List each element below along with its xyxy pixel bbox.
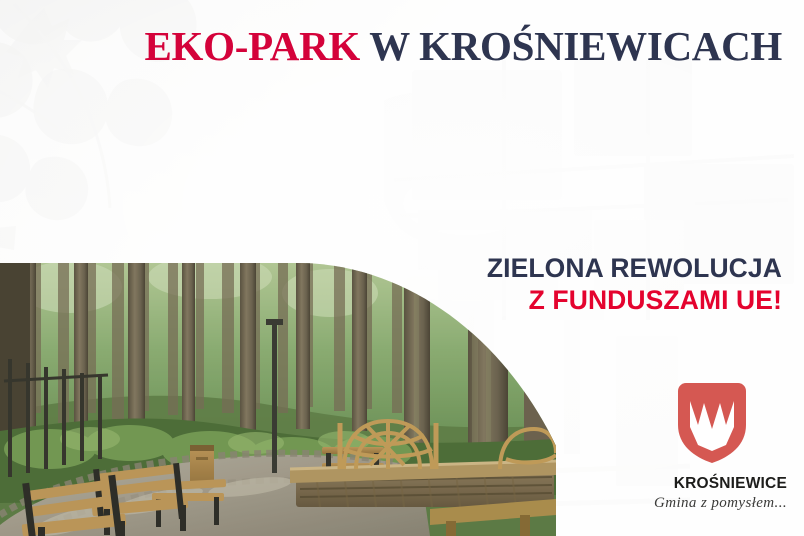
subheadline-line-2: Z FUNDUSZAMI UE! <box>487 284 782 316</box>
coat-of-arms-icon <box>678 383 746 463</box>
municipality-logo: KROŚNIEWICE Gmina z pomysłem... <box>640 383 792 518</box>
page-title: EKO-PARK W KROŚNIEWICACH <box>0 26 782 67</box>
page-title-rest: W KROŚNIEWICACH <box>360 23 782 69</box>
subheadline: ZIELONA REWOLUCJA Z FUNDUSZAMI UE! <box>487 252 782 317</box>
subheadline-line-1: ZIELONA REWOLUCJA <box>487 252 782 284</box>
municipality-tagline: Gmina z pomysłem... <box>640 495 787 512</box>
municipality-name: KROŚNIEWICE <box>640 475 787 493</box>
poster-canvas: EKO-PARK W KROŚNIEWICACH ZIELONA REWOLUC… <box>0 0 804 536</box>
page-title-highlight: EKO-PARK <box>145 23 361 69</box>
